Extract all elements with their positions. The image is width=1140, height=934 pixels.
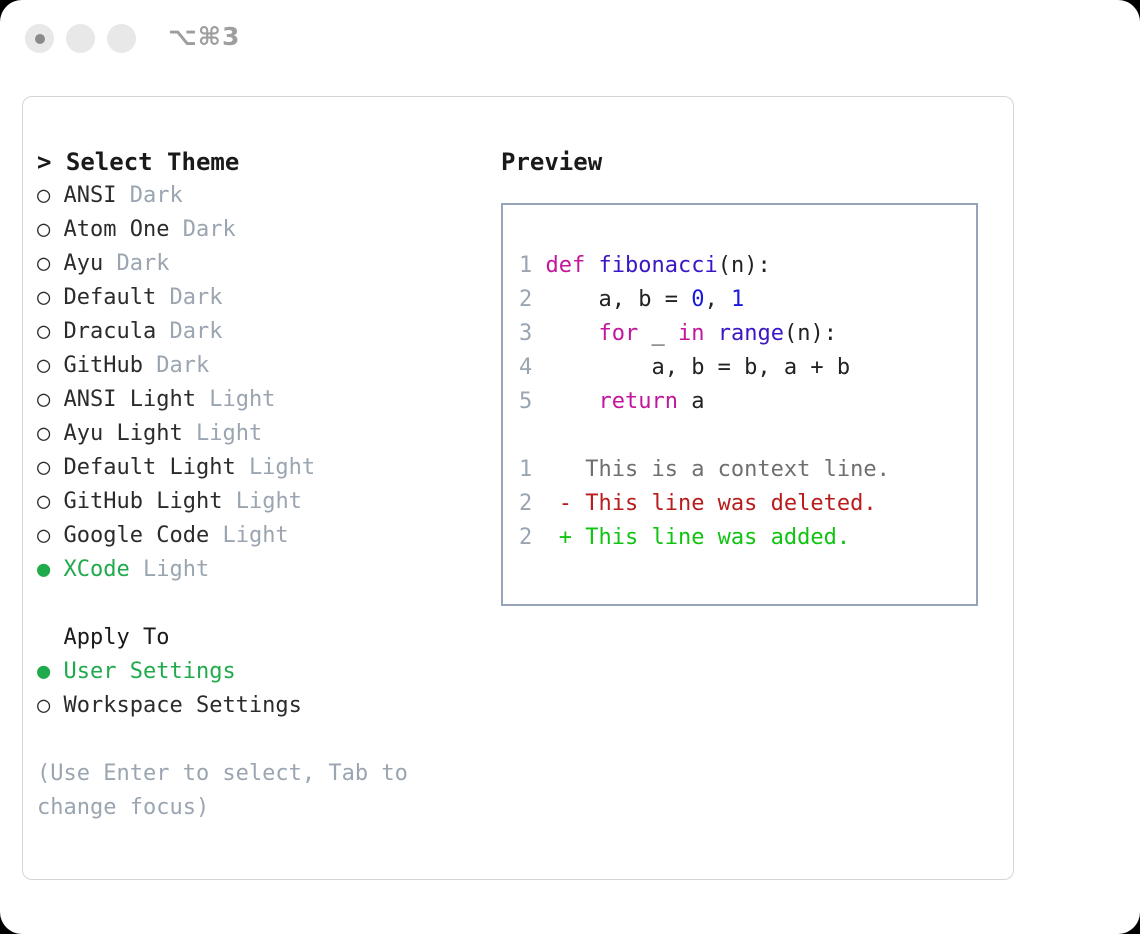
radio-unselected-icon: ○ — [37, 693, 50, 718]
main-panel: > Select Theme ○ ANSI Dark○ Atom One Dar… — [22, 96, 1014, 880]
theme-list-item[interactable]: ○ ANSI Light Light — [37, 383, 487, 417]
apply-to-header: Apply To — [37, 621, 487, 655]
theme-selector-column: > Select Theme ○ ANSI Dark○ Atom One Dar… — [37, 145, 487, 825]
window-dot-second[interactable] — [66, 24, 95, 53]
code-token: a, b = b, a + b — [546, 355, 851, 380]
theme-name: Ayu — [64, 251, 104, 276]
code-token: for — [598, 321, 638, 346]
theme-list-item[interactable]: ● XCode Light — [37, 553, 487, 587]
theme-name: GitHub Light — [64, 489, 223, 514]
theme-variant-tag: Dark — [183, 217, 236, 242]
preview-title: Preview — [501, 145, 1001, 179]
window-controls — [25, 24, 136, 53]
theme-list-item[interactable]: ○ Atom One Dark — [37, 213, 487, 247]
apply-to-list: ● User Settings○ Workspace Settings — [37, 655, 487, 723]
radio-unselected-icon: ○ — [37, 217, 50, 242]
keyboard-shortcut-label: ⌥⌘3 — [168, 22, 240, 51]
code-token — [546, 321, 599, 346]
line-number: 3 — [519, 321, 532, 346]
window-dot-third[interactable] — [107, 24, 136, 53]
apply-to-label: User Settings — [64, 659, 236, 684]
line-number: 5 — [519, 389, 532, 414]
diff-sample: 1 This is a context line.2 - This line w… — [519, 453, 968, 555]
theme-name: GitHub — [64, 353, 143, 378]
theme-variant-tag: Light — [236, 489, 302, 514]
theme-name: ANSI — [64, 183, 117, 208]
radio-selected-icon: ● — [37, 659, 50, 684]
theme-variant-tag: Light — [249, 455, 315, 480]
diff-text: - This line was deleted. — [532, 491, 876, 516]
theme-variant-tag: Dark — [156, 353, 209, 378]
keyboard-hint: (Use Enter to select, Tab to change focu… — [37, 757, 437, 825]
theme-name: Atom One — [64, 217, 170, 242]
code-token: _ — [638, 321, 678, 346]
theme-name: Default — [64, 285, 157, 310]
code-token — [704, 321, 717, 346]
theme-list-item[interactable]: ○ Ayu Light Light — [37, 417, 487, 451]
theme-name: Ayu Light — [64, 421, 183, 446]
apply-to-label: Workspace Settings — [64, 693, 302, 718]
code-line: 4 a, b = b, a + b — [519, 351, 968, 385]
line-number: 2 — [519, 525, 532, 550]
apply-to-item[interactable]: ● User Settings — [37, 655, 487, 689]
line-number: 2 — [519, 491, 532, 516]
radio-unselected-icon: ○ — [37, 183, 50, 208]
radio-unselected-icon: ○ — [37, 523, 50, 548]
window-dot-inner — [35, 34, 45, 44]
code-token — [546, 389, 599, 414]
theme-list-header: > Select Theme — [37, 145, 487, 179]
radio-unselected-icon: ○ — [37, 455, 50, 480]
theme-list-item[interactable]: ○ GitHub Dark — [37, 349, 487, 383]
radio-unselected-icon: ○ — [37, 387, 50, 412]
code-line: 2 a, b = 0, 1 — [519, 283, 968, 317]
theme-name: XCode — [64, 557, 130, 582]
radio-unselected-icon: ○ — [37, 251, 50, 276]
radio-selected-icon: ● — [37, 557, 50, 582]
code-line: 3 for _ in range(n): — [519, 317, 968, 351]
theme-name: Default Light — [64, 455, 236, 480]
code-line: 1 def fibonacci(n): — [519, 249, 968, 283]
code-token: a, b = — [546, 287, 692, 312]
diff-line: 2 + This line was added. — [519, 521, 968, 555]
diff-line: 1 This is a context line. — [519, 453, 968, 487]
theme-variant-tag: Dark — [130, 183, 183, 208]
diff-text: This is a context line. — [532, 457, 890, 482]
theme-list-item[interactable]: ○ Google Code Light — [37, 519, 487, 553]
code-token: a — [678, 389, 705, 414]
radio-unselected-icon: ○ — [37, 421, 50, 446]
theme-list-item[interactable]: ○ Dracula Dark — [37, 315, 487, 349]
preview-box: 1 def fibonacci(n):2 a, b = 0, 13 for _ … — [501, 203, 978, 606]
app-window: ⌥⌘3 > Select Theme ○ ANSI Dark○ Atom One… — [0, 0, 1140, 934]
code-sample: 1 def fibonacci(n):2 a, b = 0, 13 for _ … — [519, 249, 968, 419]
radio-unselected-icon: ○ — [37, 285, 50, 310]
radio-unselected-icon: ○ — [37, 353, 50, 378]
theme-variant-tag: Light — [209, 387, 275, 412]
theme-name: ANSI Light — [64, 387, 196, 412]
code-token: , — [704, 287, 731, 312]
radio-unselected-icon: ○ — [37, 319, 50, 344]
theme-name: Dracula — [64, 319, 157, 344]
theme-list-item[interactable]: ○ GitHub Light Light — [37, 485, 487, 519]
window-dot-active[interactable] — [25, 24, 54, 53]
code-token: (n): — [718, 253, 771, 278]
apply-to-item[interactable]: ○ Workspace Settings — [37, 689, 487, 723]
theme-variant-tag: Light — [222, 523, 288, 548]
theme-name: Google Code — [64, 523, 210, 548]
code-token: in — [678, 321, 705, 346]
code-token: return — [598, 389, 677, 414]
theme-list-item[interactable]: ○ Default Light Light — [37, 451, 487, 485]
line-number: 1 — [519, 457, 532, 482]
line-number: 2 — [519, 287, 532, 312]
diff-line: 2 - This line was deleted. — [519, 487, 968, 521]
theme-variant-tag: Light — [196, 421, 262, 446]
code-token: range — [718, 321, 784, 346]
theme-list-item[interactable]: ○ ANSI Dark — [37, 179, 487, 213]
line-number: 4 — [519, 355, 532, 380]
line-number: 1 — [519, 253, 532, 278]
theme-variant-tag: Light — [143, 557, 209, 582]
code-token: 0 — [691, 287, 704, 312]
theme-list: ○ ANSI Dark○ Atom One Dark○ Ayu Dark○ De… — [37, 179, 487, 587]
code-token: 1 — [731, 287, 744, 312]
code-token: fibonacci — [598, 253, 717, 278]
theme-variant-tag: Dark — [117, 251, 170, 276]
theme-variant-tag: Dark — [169, 285, 222, 310]
theme-list-item[interactable]: ○ Default Dark — [37, 281, 487, 315]
preview-column: Preview 1 def fibonacci(n):2 a, b = 0, 1… — [501, 145, 1001, 606]
theme-variant-tag: Dark — [169, 319, 222, 344]
code-line: 5 return a — [519, 385, 968, 419]
title-bar: ⌥⌘3 — [0, 0, 1140, 78]
theme-list-item[interactable]: ○ Ayu Dark — [37, 247, 487, 281]
radio-unselected-icon: ○ — [37, 489, 50, 514]
section-spacer — [37, 587, 487, 621]
code-token: (n): — [784, 321, 837, 346]
diff-text: + This line was added. — [532, 525, 850, 550]
code-token: def — [546, 253, 599, 278]
